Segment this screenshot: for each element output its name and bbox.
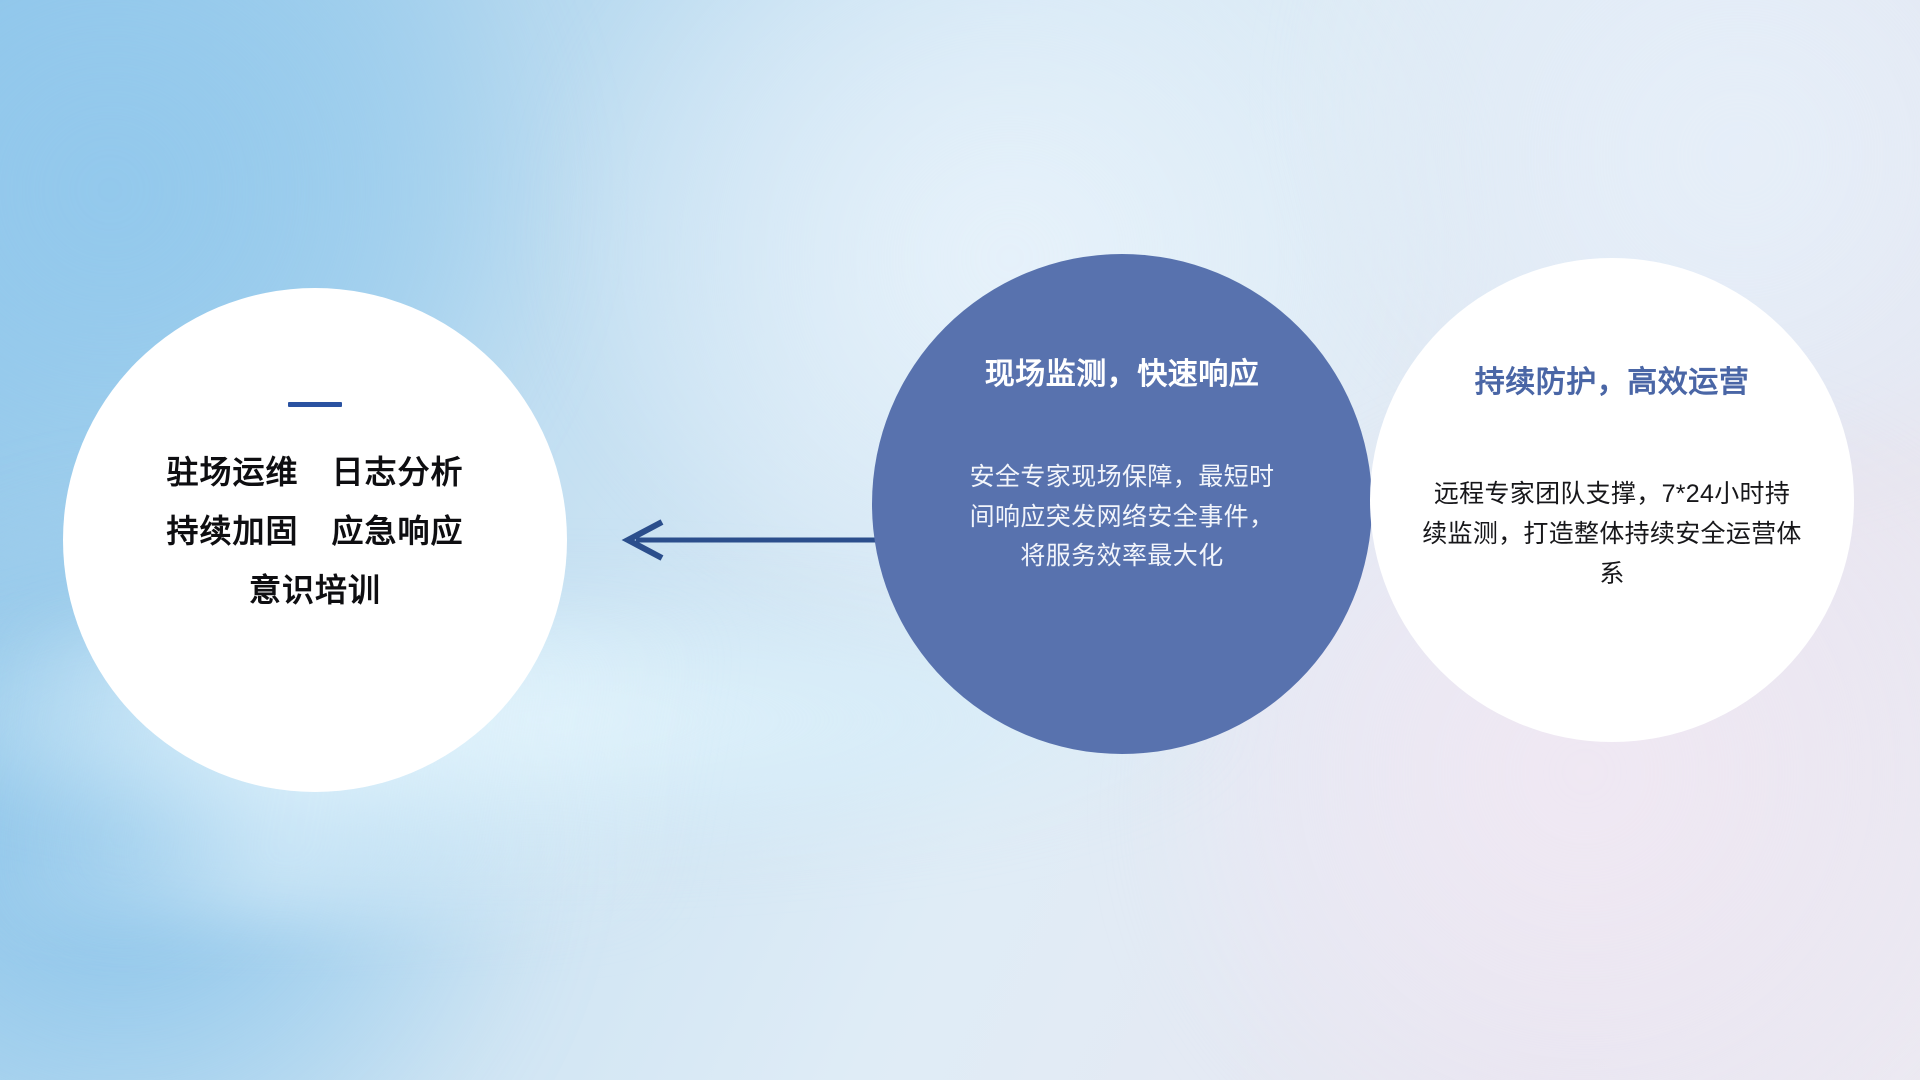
capability-line-1: 驻场运维 日志分析	[63, 456, 567, 488]
flow-arrow-icon	[600, 512, 890, 568]
capability-line-3: 意识培训	[63, 574, 567, 606]
capability-tag-list: 驻场运维 日志分析 持续加固 应急响应 意识培训	[63, 456, 567, 606]
node-continuous-body: 远程专家团队支撑，7*24小时持续监测，打造整体持续安全运营体系	[1422, 474, 1802, 594]
node-onsite-title: 现场监测，快速响应	[872, 358, 1372, 391]
node-continuous-title: 持续防护，高效运营	[1370, 366, 1854, 399]
node-onsite-body: 安全专家现场保障，最短时间响应突发网络安全事件，将服务效率最大化	[961, 458, 1283, 577]
node-onsite-monitoring[interactable]: 现场监测，快速响应 安全专家现场保障，最短时间响应突发网络安全事件，将服务效率最…	[872, 254, 1372, 754]
diagram-stage: 驻场运维 日志分析 持续加固 应急响应 意识培训 现场监测，快速响应 安全专家现…	[0, 0, 1920, 1080]
divider-dash	[288, 402, 342, 407]
capability-line-2: 持续加固 应急响应	[63, 515, 567, 547]
node-capabilities[interactable]: 驻场运维 日志分析 持续加固 应急响应 意识培训	[63, 288, 567, 792]
node-continuous-protection[interactable]: 持续防护，高效运营 远程专家团队支撑，7*24小时持续监测，打造整体持续安全运营…	[1370, 258, 1854, 742]
